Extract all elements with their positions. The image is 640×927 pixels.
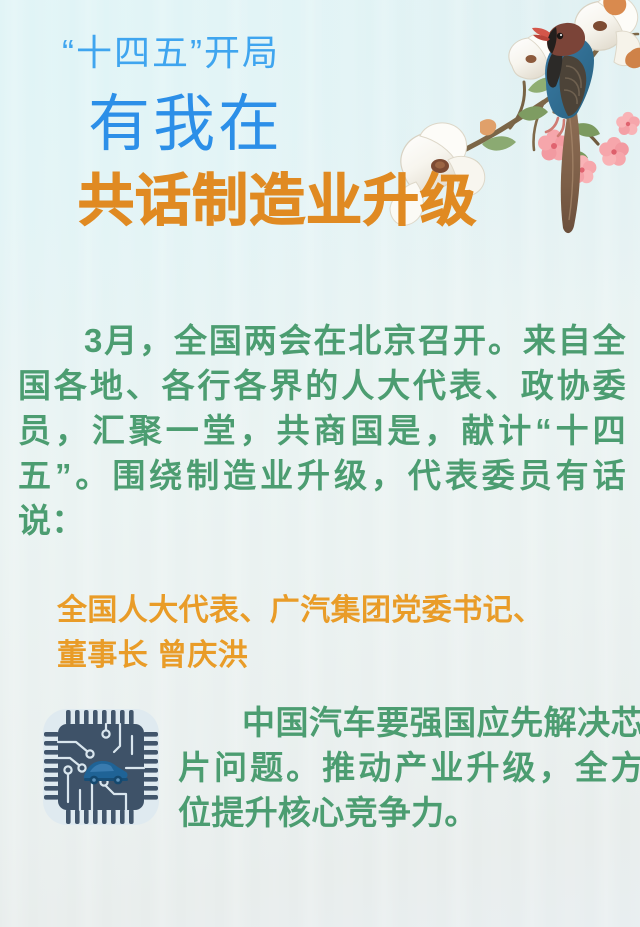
chip-car-icon	[40, 706, 162, 828]
quote-paragraph: 中国汽车要强国应先解决芯片问题。推动产业升级，全方位提升核心竞争力。	[178, 700, 640, 835]
headline-block: “十四五”开局 有我在 共话制造业升级	[0, 30, 640, 234]
intro-paragraph: 3月，全国两会在北京召开。来自全国各地、各行各界的人大代表、政协委员，汇聚一堂，…	[18, 318, 626, 543]
title-main: 有我在	[0, 76, 640, 162]
title-accent: 共话制造业升级	[0, 162, 640, 234]
poster-canvas: “十四五”开局 有我在 共话制造业升级 3月，全国两会在北京召开。来自全国各地、…	[0, 0, 640, 927]
speaker-credit-line-2: 董事长 曾庆洪	[57, 633, 623, 678]
speaker-credit-line-1: 全国人大代表、广汽集团党委书记、	[57, 588, 623, 633]
title-kicker: “十四五”开局	[0, 30, 640, 76]
speaker-credit: 全国人大代表、广汽集团党委书记、 董事长 曾庆洪	[57, 588, 623, 678]
